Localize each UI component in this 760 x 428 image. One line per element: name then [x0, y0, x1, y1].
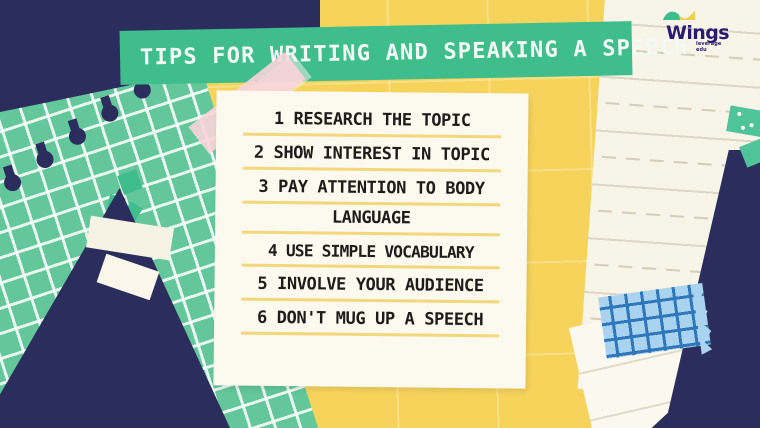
tip-item: 6 DON'T MUG UP A SPEECH: [214, 310, 526, 347]
logo-tagline: leverage edu: [696, 42, 721, 54]
header-banner: TIPS FOR WRITING AND SPEAKING A SPEECH: [120, 21, 633, 85]
tips-note-card: 1 RESEARCH THE TOPIC2 SHOW INTEREST IN T…: [213, 90, 528, 388]
tip-item-text: 1 RESEARCH THE TOPIC: [222, 110, 522, 130]
tip-item-underline: [243, 133, 501, 139]
tip-item-underline: [243, 167, 501, 173]
tip-item-underline: [242, 264, 500, 270]
tip-item-text: 5 INVOLVE YOUR AUDIENCE: [220, 276, 520, 296]
tip-item-text: LANGUAGE: [221, 208, 521, 228]
tip-item-text: 2 SHOW INTEREST IN TOPIC: [222, 144, 522, 164]
tip-item-text: 3 PAY ATTENTION TO BODY: [221, 178, 521, 198]
tip-item-text: 4 USE SIMPLE VOCABULARY: [221, 242, 521, 261]
brand-logo[interactable]: Wings leverage edu: [660, 8, 746, 54]
tip-item-underline: [241, 298, 499, 304]
tip-item-underline: [241, 332, 499, 338]
page-title: TIPS FOR WRITING AND SPEAKING A SPEECH: [120, 34, 689, 70]
logo-tagline-line2: edu: [696, 48, 721, 54]
tip-item-text: 6 DON'T MUG UP A SPEECH: [220, 310, 520, 330]
slide-canvas: TIPS FOR WRITING AND SPEAKING A SPEECH 1…: [0, 0, 760, 428]
tip-item-underline: [242, 231, 500, 237]
tip-item-underline: [242, 201, 500, 207]
tips-list: 1 RESEARCH THE TOPIC2 SHOW INTEREST IN T…: [214, 110, 528, 346]
tip-item: LANGUAGE: [215, 208, 527, 245]
tip-item: 3 PAY ATTENTION TO BODY: [215, 178, 527, 211]
